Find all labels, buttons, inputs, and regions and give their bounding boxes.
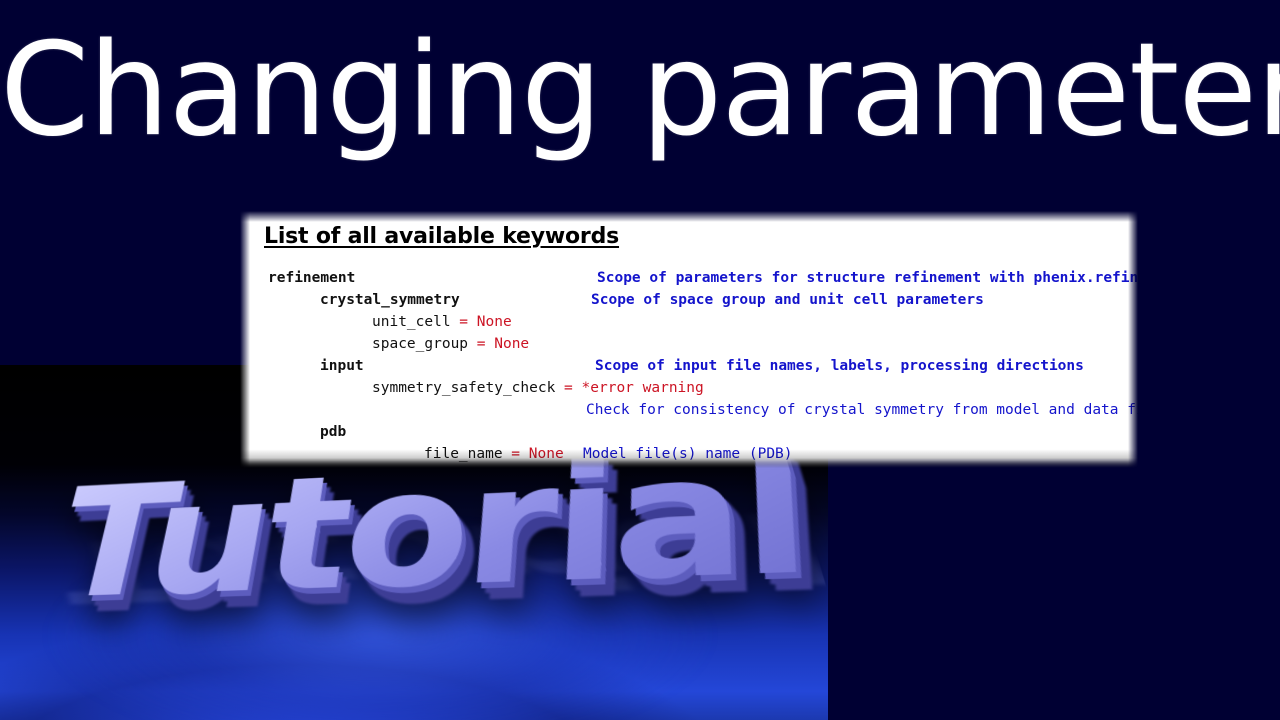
- keyword-name: input: [320, 358, 364, 374]
- keyword-name: crystal_symmetry: [320, 292, 460, 308]
- keyword-equals: =: [503, 446, 529, 462]
- page-title: Changing parameters: [0, 24, 1280, 158]
- keyword-name: pdb: [320, 424, 346, 440]
- keyword-equals: =: [451, 314, 477, 330]
- keyword-name: file_name: [424, 446, 503, 462]
- keyword-row: inputScope of input file names, labels, …: [240, 355, 1138, 377]
- keyword-row: pdb: [240, 421, 1138, 443]
- keyword-value: None: [494, 336, 529, 352]
- keyword-entry: unit_cell = None: [372, 311, 512, 333]
- keyword-name: refinement: [268, 270, 355, 286]
- keyword-panel: List of all available keywords refinemen…: [240, 211, 1138, 468]
- keyword-name: space_group: [372, 336, 468, 352]
- keyword-entry: symmetry_safety_check = *error warning: [372, 377, 704, 399]
- keyword-equals: =: [555, 380, 581, 396]
- keyword-row: symmetry_safety_check = *error warning: [240, 377, 1138, 399]
- keyword-name: unit_cell: [372, 314, 451, 330]
- keyword-row: refinementScope of parameters for struct…: [240, 267, 1138, 289]
- keyword-help-text: Scope of space group and unit cell param…: [591, 289, 984, 311]
- keyword-help-text: Scope of parameters for structure refine…: [597, 267, 1138, 289]
- panel-heading: List of all available keywords: [264, 224, 619, 249]
- keyword-name: symmetry_safety_check: [372, 380, 555, 396]
- keyword-entry: crystal_symmetry: [320, 289, 460, 311]
- keyword-help-text: Model file(s) name (PDB): [583, 443, 793, 465]
- keyword-entry: pdb: [320, 421, 346, 443]
- keyword-row: crystal_symmetryScope of space group and…: [240, 289, 1138, 311]
- slide-root: Changing parameters Tutorial Tutorial Li…: [0, 0, 1280, 720]
- keyword-row: file_name = NoneModel file(s) name (PDB): [240, 443, 1138, 465]
- keyword-listing: refinementScope of parameters for struct…: [240, 267, 1138, 465]
- keyword-help-text: Scope of input file names, labels, proce…: [595, 355, 1084, 377]
- keyword-entry: space_group = None: [372, 333, 529, 355]
- keyword-row: space_group = None: [240, 333, 1138, 355]
- keyword-row: Check for consistency of crystal symmetr…: [240, 399, 1138, 421]
- keyword-value: *error warning: [582, 380, 704, 396]
- keyword-value: None: [477, 314, 512, 330]
- keyword-row: unit_cell = None: [240, 311, 1138, 333]
- keyword-entry: input: [320, 355, 364, 377]
- keyword-equals: =: [468, 336, 494, 352]
- keyword-help-text: Check for consistency of crystal symmetr…: [586, 399, 1138, 421]
- keyword-entry: file_name = None: [424, 443, 564, 465]
- keyword-value: None: [529, 446, 564, 462]
- keyword-entry: refinement: [268, 267, 355, 289]
